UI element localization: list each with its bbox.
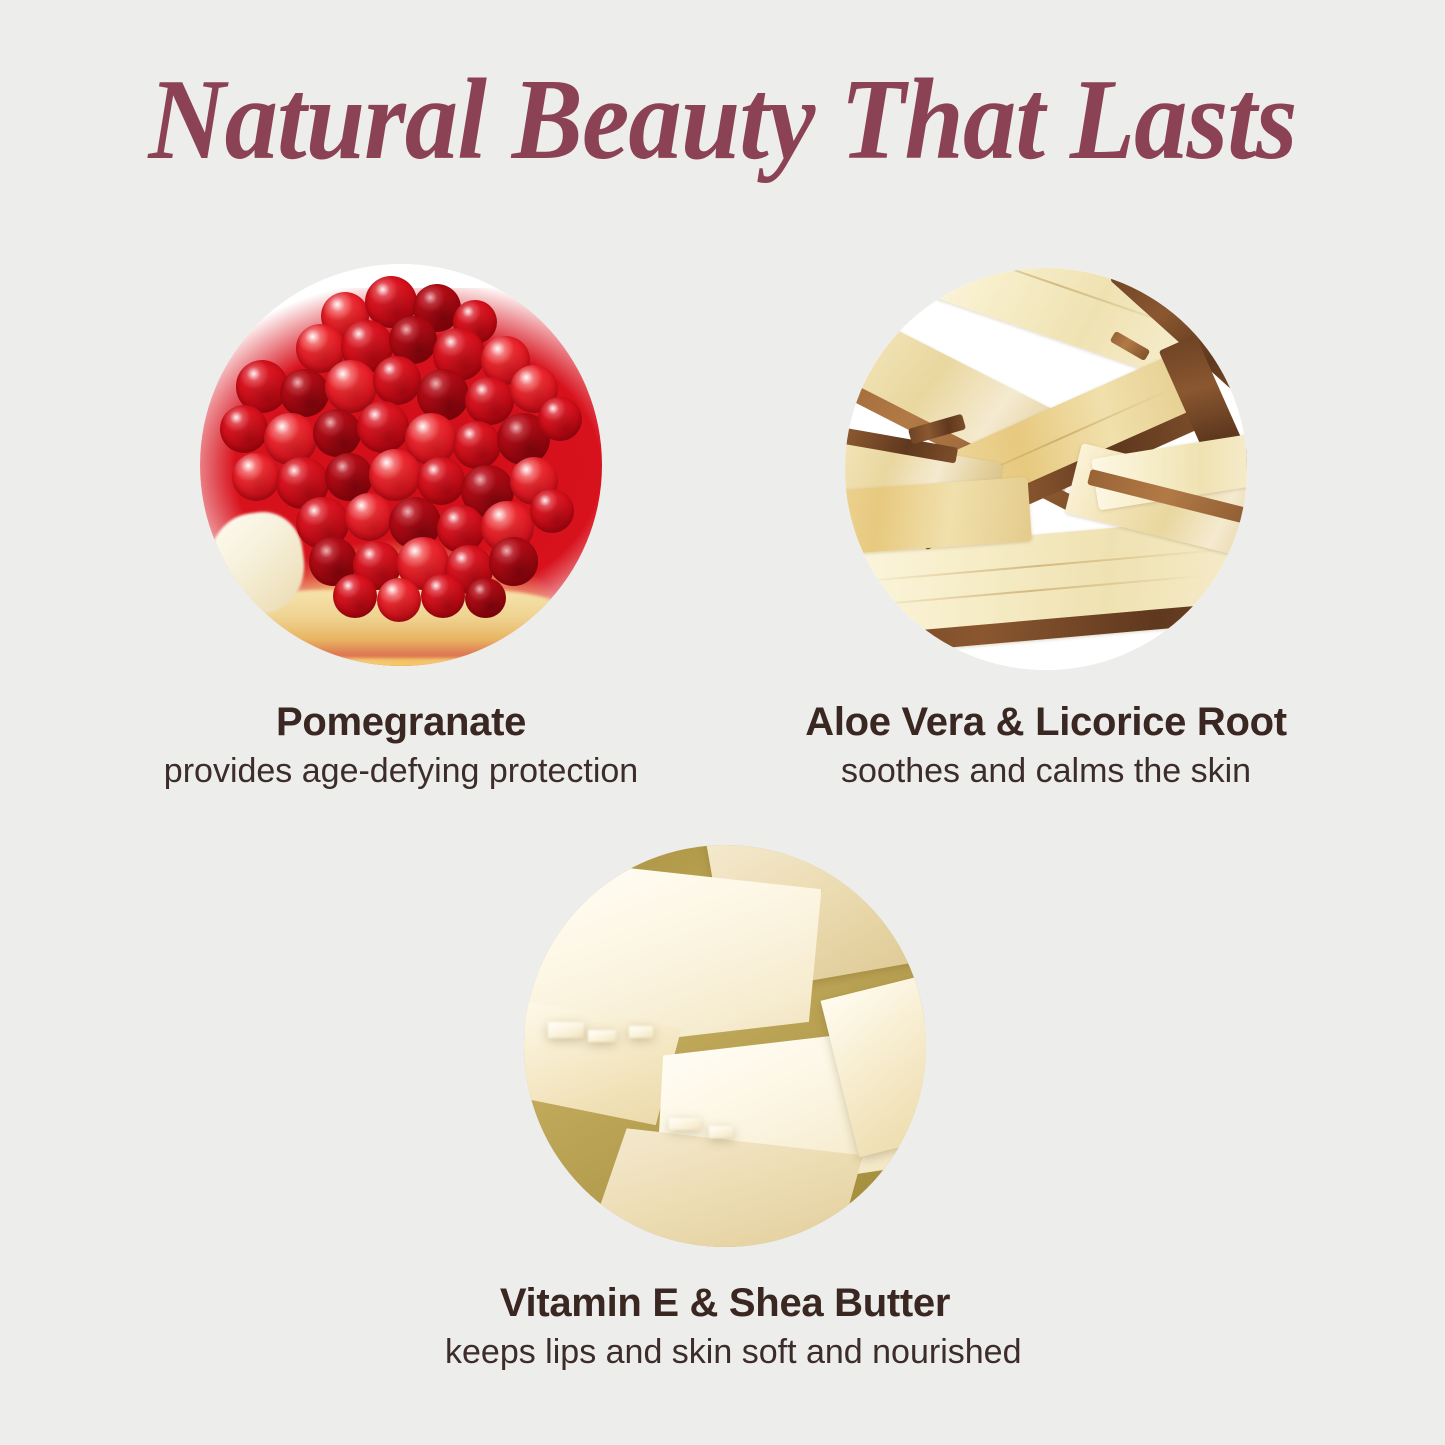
shea-caption: Vitamin E & Shea Butter keeps lips and s… bbox=[445, 1281, 1005, 1373]
ingredient-card-shea: Vitamin E & Shea Butter keeps lips and s… bbox=[524, 845, 1005, 1373]
pomegranate-caption: Pomegranate provides age-defying protect… bbox=[121, 700, 681, 792]
ingredient-benefit: keeps lips and skin soft and nourished bbox=[445, 1332, 1005, 1373]
ingredient-benefit: provides age-defying protection bbox=[121, 751, 681, 792]
shea-butter-image bbox=[524, 845, 926, 1247]
ingredient-infographic: Natural Beauty That Lasts bbox=[0, 0, 1445, 1445]
ingredient-card-pomegranate: Pomegranate provides age-defying protect… bbox=[200, 264, 681, 792]
ingredient-name: Vitamin E & Shea Butter bbox=[445, 1281, 1005, 1326]
ingredient-card-licorice: Aloe Vera & Licorice Root soothes and ca… bbox=[845, 268, 1326, 792]
ingredient-benefit: soothes and calms the skin bbox=[766, 751, 1326, 792]
pomegranate-image bbox=[200, 264, 602, 666]
page-title: Natural Beauty That Lasts bbox=[58, 62, 1387, 178]
ingredient-name: Pomegranate bbox=[121, 700, 681, 745]
licorice-root-image bbox=[845, 268, 1247, 670]
licorice-caption: Aloe Vera & Licorice Root soothes and ca… bbox=[766, 700, 1326, 792]
ingredient-name: Aloe Vera & Licorice Root bbox=[766, 700, 1326, 745]
